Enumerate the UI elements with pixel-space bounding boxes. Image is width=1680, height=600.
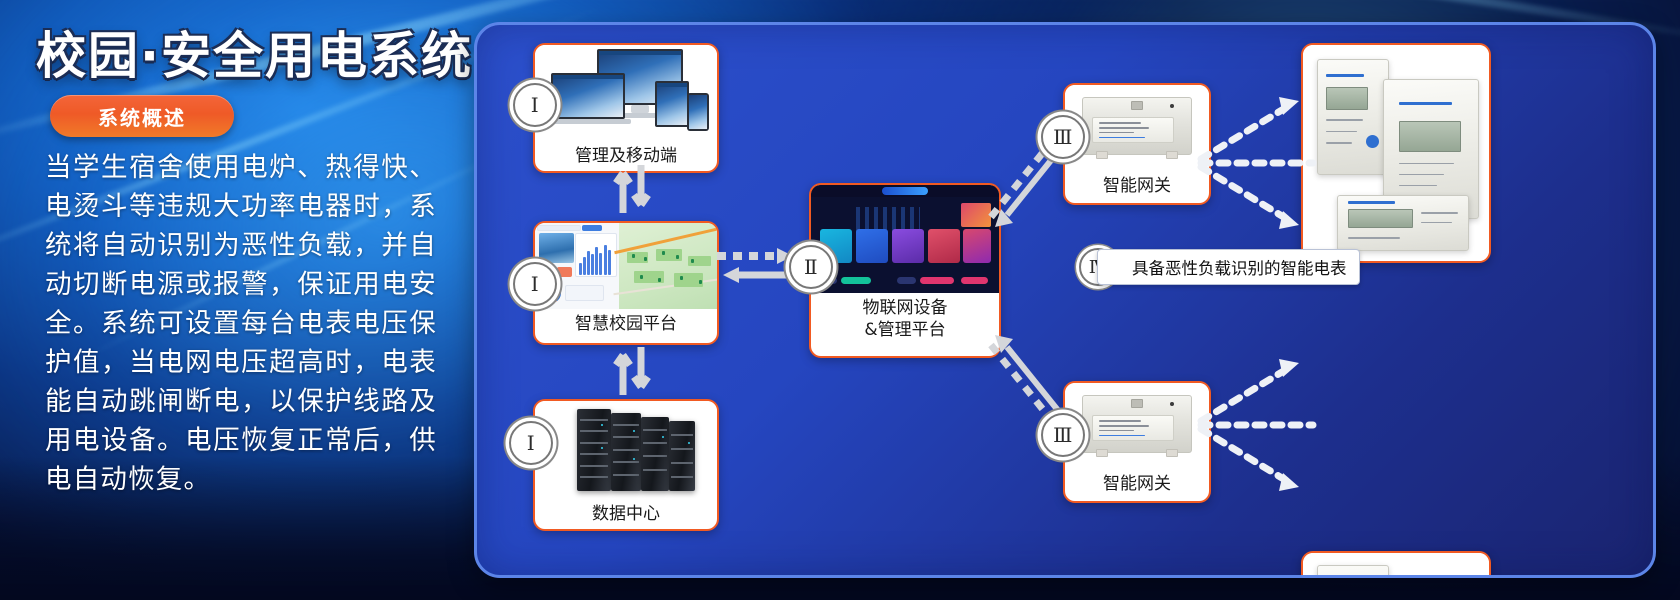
management-devices-image [535,45,717,141]
meter-button [1366,135,1379,148]
gateway-body [1082,395,1191,453]
dashboard-bar-7 [604,245,607,275]
marker-gateway-top-text: Ⅲ [1053,125,1073,150]
meter-lcd [1326,87,1368,110]
meter-lcd [1399,121,1461,151]
meter-single-phase [1317,59,1389,175]
node-data-center-label: 数据中心 [535,499,717,531]
iot-status-pill-4 [920,277,954,284]
server-rack-3 [641,417,669,491]
marker-campus-platform: Ⅰ [513,262,557,306]
campus-dashboard-image [535,223,717,309]
iot-tile-5 [963,229,991,263]
node-data-center[interactable]: 数据中心 [533,399,719,531]
dashboard-card-1 [537,225,581,231]
dashboard-photo [539,233,574,263]
page-title: 校园·安全用电系统 [36,16,473,88]
marker-data-center: Ⅰ [509,421,553,465]
iot-tile-2 [856,229,888,263]
arrow-gateway-bottom-meters [1195,325,1321,515]
campus-map [619,223,717,309]
iot-tile-3 [892,229,924,263]
intro-column: 校园·安全用电系统 系统概述 当学生宿舍使用电炉、热得快、电烫斗等违规大功率电器… [0,0,470,600]
iot-dashboard-image [811,185,999,293]
node-iot-platform-label-2: &管理平台 [811,319,999,348]
gateway-usb-port [1131,101,1144,110]
overview-paragraph: 当学生宿舍使用电炉、热得快、电烫斗等违规大功率电器时，系统将自动识别为恶性负载，… [45,148,437,499]
node-iot-platform-label-1: 物联网设备 [811,293,999,319]
dashboard-bar-5 [595,247,598,275]
node-meters-label: 具备恶性负载识别的智能电表 [1097,249,1360,285]
iot-status-pill-3 [897,277,916,284]
iot-tile-4 [928,229,960,263]
marker-management-text: Ⅰ [531,93,539,118]
laptop-base [545,119,631,124]
marker-campus-platform-text: Ⅰ [531,272,539,297]
tablet-icon [655,81,689,127]
marker-data-center-text: Ⅰ [527,431,535,456]
dashboard-card-2 [582,225,602,231]
meter-din-rail [1337,195,1469,251]
server-rack-1 [577,409,611,491]
marker-iot-platform-text: Ⅱ [804,255,818,280]
diagram-panel: 管理及移动端 Ⅰ [474,22,1656,578]
marker-management: Ⅰ [513,83,557,127]
dashboard-bar-8 [608,250,611,275]
data-center-image [535,401,717,499]
node-gateway-bottom-label: 智能网关 [1065,469,1209,502]
meter-single-phase [1317,565,1389,578]
server-rack-2 [611,413,641,491]
node-iot-platform[interactable]: 物联网设备 &管理平台 [809,183,1001,358]
marker-gateway-bottom: Ⅲ [1041,413,1085,457]
dashboard-bar-3 [587,251,590,275]
dashboard-legend [565,285,604,301]
node-meters-label-text: 具备恶性负载识别的智能电表 [1132,255,1347,279]
map-pin-8 [680,276,683,280]
gateway-mount-tab-right [1166,151,1178,159]
gateway-mount-tab-left [1096,449,1108,457]
node-campus-platform-label: 智慧校园平台 [535,309,717,342]
meter-brand-stripe [1348,201,1395,204]
dashboard-bar-2 [583,257,586,275]
server-rack-4 [669,421,695,491]
node-management[interactable]: 管理及移动端 [533,43,719,173]
gateway-faceplate [1092,415,1174,441]
gateway-body [1082,97,1191,155]
map-road-secondary [613,277,719,295]
gateway-mount-tab-right [1166,449,1178,457]
gateway-usb-port [1131,399,1144,408]
marker-iot-platform: Ⅱ [789,245,833,289]
node-meters-bottom[interactable] [1301,551,1491,578]
status-badge: 系统概述 [50,95,234,137]
marker-gateway-top: Ⅲ [1041,115,1085,159]
phone-icon [687,93,709,131]
dashboard-kpi-2 [557,267,572,277]
meter-top-image [1303,45,1489,261]
iot-status-pill-5 [961,277,987,284]
gateway-mount-tab-left [1096,151,1108,159]
dashboard-bar-1 [579,263,582,275]
marker-gateway-bottom-text: Ⅲ [1053,423,1073,448]
gateway-indicator-led [1170,402,1174,406]
dashboard-bar-6 [599,253,602,275]
laptop-icon [551,73,625,119]
gateway-indicator-led [1170,104,1174,108]
meter-brand-stripe [1399,102,1452,105]
iot-status-pill-2 [841,277,871,284]
arrow-gateway-top-meters [1195,63,1321,253]
arrow-campus-datacenter [609,343,653,399]
meter-brand-stripe [1326,74,1364,77]
arrow-management-campus [609,161,653,217]
map-pin-4 [676,255,679,259]
map-pin-7 [658,278,661,282]
gateway-faceplate [1092,117,1174,143]
map-pin-3 [662,251,665,255]
node-meters-top[interactable] [1301,43,1491,263]
monitor-stand [631,105,649,113]
iot-header-title [882,187,927,195]
map-pin-6 [640,275,643,279]
dashboard-bar-4 [591,254,594,275]
map-pin-9 [699,280,702,284]
meter-lcd [1348,209,1413,228]
node-campus-platform[interactable]: 智慧校园平台 [533,221,719,345]
meter-bottom-image [1303,553,1489,578]
status-badge-label: 系统概述 [98,102,186,131]
